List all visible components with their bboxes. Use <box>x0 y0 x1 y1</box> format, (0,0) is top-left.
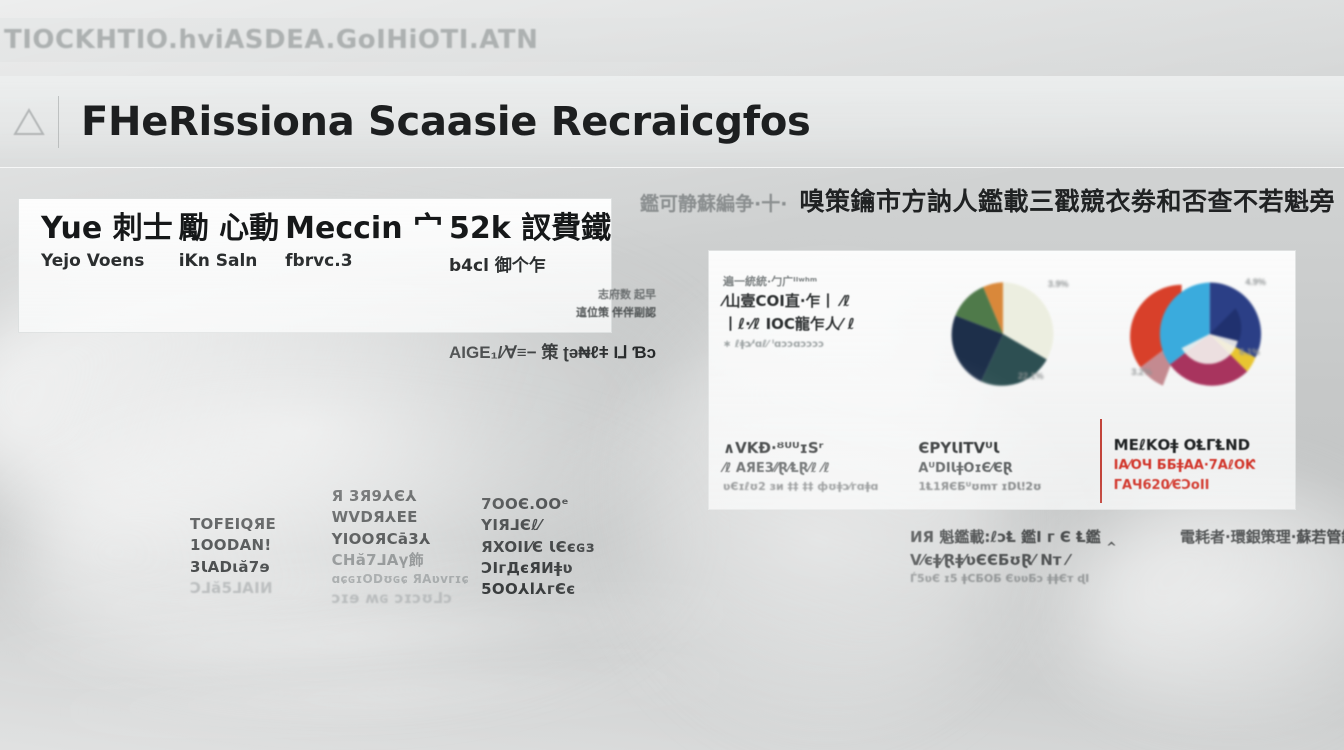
kpi-label: fbrvc.3 <box>285 251 443 271</box>
pie-chart-2[interactable]: 4.9% 6.1% 3.2% <box>1123 275 1273 393</box>
list-column[interactable]: TOFEIQЯE 1OODAN! 3ƖADιă7ɘ Ɔ⅃ă5⅃AIИ <box>190 486 330 599</box>
list-item: 1OODAN! <box>190 535 330 556</box>
analytics-tile-pie-1[interactable]: 3.9% 22.1% ЄPYƖІTVᵁƖ AᵁDІƖǂOɪЄ⁄ЄⱤ 1Ⱡ1ЯЄБ… <box>904 251 1099 509</box>
kpi-block[interactable]: 勵 心動 iKn Saln <box>173 213 279 332</box>
tile-caption: ∧VΚĐ·ᴽᵁᵁɪЅʳ ⁄ℓ AЯE3⁄⁄Ɽ⁄ⱠⱤ⁄ℓ ⁄ℓ ʋЄɪℓʊ2 зи… <box>723 437 896 496</box>
list-item: WVDЯ⅄EE <box>332 507 472 528</box>
list-item: YIOOЯCā3⅄ <box>332 529 472 550</box>
list-item: ƆІгДєЯИǂʋ <box>481 558 612 579</box>
background-streak <box>40 672 740 719</box>
kpi-card: Yue 刺士 Yejo Voens 勵 心動 iKn Saln Meccin 宀… <box>18 198 612 333</box>
left-list-row: TOFEIQЯE 1OODAN! 3ƖADιă7ɘ Ɔ⅃ă5⅃AIИ Я 3Я9… <box>18 486 612 616</box>
pie-tick-label: 3.9% <box>1048 279 1069 289</box>
tile-caption-alert: IA⁄OЧ ББǂAA·7AℓOƘ <box>1114 456 1287 476</box>
pie-tick-label: 3.2% <box>1131 367 1152 377</box>
list-item: TOFEIQЯE <box>190 514 330 535</box>
tile-caption: MEℓΚOǂ OⱠГⱠND IA⁄OЧ ББǂAA·7AℓOƘ ГAЧ620⁄Є… <box>1114 434 1287 496</box>
analytics-tile-pie-2[interactable]: 4.9% 6.1% 3.2% MEℓΚOǂ OⱠГⱠND IA⁄OЧ ББǂAA… <box>1100 251 1295 509</box>
kpi-value: Meccin 宀 <box>285 213 443 245</box>
tile-caption-title: MEℓΚOǂ OⱠГⱠND <box>1114 434 1287 457</box>
section-header-prefix: 鑑可静蘇編争·十· <box>640 189 787 216</box>
kpi-value: Yue 刺士 <box>41 213 173 245</box>
list-column[interactable]: 7OOЄ.OOᵉ YІЯ⅃Єℓ⁄ ЯXOІІ⁄Є ƖЄєɢз ƆІгДєЯИǂʋ… <box>481 486 612 600</box>
header-divider <box>58 96 59 148</box>
breadcrumb[interactable]: TIOCKHTIO.hviASDEA.GoIHiOTI.ATN <box>0 18 760 62</box>
pie-chart-1[interactable]: 3.9% 22.1% <box>944 275 1062 393</box>
tile-text-line: ⁄山壹COІ直·乍丨 ⁄ℓ <box>723 290 892 313</box>
breadcrumb-text: TIOCKHTIO.hviASDEA.GoIHiOTI.ATN <box>4 25 538 55</box>
analytics-tile-text[interactable]: 遍一統統·勹广ᴵᴵʷʰᵐ ⁄山壹COІ直·乍丨 ⁄ℓ 丨ℓ·⁄ℓ IOC龍乍人⁄… <box>709 251 904 509</box>
kpi-label: iKn Saln <box>179 251 279 271</box>
list-item: ɔɪɘ ʍɢ ɔɪↄʊ⅃ɔ <box>332 588 472 609</box>
note-line: ИЯ 魁鑑載:ℓɔⱠ 鑑І г Є Ⱡ鑑 ‸ <box>910 526 1117 549</box>
list-item: ɑɕɢɪODʊɢɕ ЯAʋvгɪɕ <box>332 571 472 588</box>
note-line: 電耗者·環銀策理·蘇若管鑑 <box>1180 526 1344 549</box>
tile-text-line: 丨ℓ·⁄ℓ IOC龍乍人⁄ ℓ <box>723 313 892 336</box>
pie-tick-label: 22.1% <box>1018 371 1044 381</box>
kpi-block[interactable]: Yue 刺士 Yejo Voens <box>35 213 173 332</box>
kpi-label: Yejo Voens <box>41 251 173 271</box>
app-window: TIOCKHTIO.hviASDEA.GoIHiOTI.ATN FHeRissi… <box>0 0 1344 750</box>
title-bar: FHeRissiona Scaasie Recraicgfos <box>0 76 1344 168</box>
list-item: 3ƖADιă7ɘ <box>190 557 330 578</box>
tile-caption-title: ∧VΚĐ·ᴽᵁᵁɪЅʳ <box>723 437 896 460</box>
tile-caption: ЄPYƖІTVᵁƖ AᵁDІƖǂOɪЄ⁄ЄⱤ 1Ⱡ1ЯЄБᵁʊmт ɪDƖǃ2ʊ <box>918 437 1091 496</box>
pie-tick-label: 4.9% <box>1245 277 1266 287</box>
triangle-logo-icon[interactable] <box>0 76 58 168</box>
tile-text-line: ∗ ℓǂɔ⁄ᴵɑℓ⁄ ˡɑɔɔɑɔɔɔɔ <box>723 337 892 353</box>
note-line: Ѓ5ʋЄ ɪ5 ǂCБOБ ЄʋʋБɔ ǂǂЄт ɖІ <box>910 571 1117 588</box>
list-item: 7OOЄ.OOᵉ <box>481 494 612 515</box>
list-column[interactable]: Я 3Я9⅄Є⅄ WVDЯ⅄EE YIOOЯCā3⅄ CHă7⅃Aү飾 ɑɕɢɪ… <box>332 486 472 610</box>
list-item: Ɔ⅃ă5⅃AIИ <box>190 578 330 599</box>
tile-caption-sub: ⁄ℓ AЯE3⁄⁄Ɽ⁄ⱠⱤ⁄ℓ ⁄ℓ <box>723 459 896 479</box>
section-header-title: 嗅策鑰市方訥人鑑載三戳競衣劵和否查不若魁旁 <box>799 182 1335 218</box>
list-item: 5OO⅄l⅄гЄє <box>481 579 612 600</box>
list-item: YІЯ⅃Єℓ⁄ <box>481 515 612 536</box>
section-header: 鑑可静蘇編争·十· 嗅策鑰市方訥人鑑載三戳競衣劵和否查不若魁旁 <box>640 182 1330 218</box>
list-item: CHă7⅃Aү飾 <box>332 550 472 571</box>
list-item: Я 3Я9⅄Є⅄ <box>332 486 472 507</box>
footer-note-right[interactable]: 電耗者·環銀策理·蘇若管鑑 <box>1180 526 1344 549</box>
footer-note-left[interactable]: ИЯ 魁鑑載:ℓɔⱠ 鑑І г Є Ⱡ鑑 ‸ V⁄єǂ⁄Ɽǂ⁄ʋЄЄБʊⱤ⁄ N… <box>910 526 1117 588</box>
tile-caption-title: ЄPYƖІTVᵁƖ <box>918 437 1091 460</box>
kpi-block[interactable]: Meccin 宀 fbrvc.3 <box>279 213 443 332</box>
right-panel: 鑑可静蘇編争·十· 嗅策鑰市方訥人鑑載三戳競衣劵和否查不若魁旁 遍一統統·勹广ᴵ… <box>620 168 1344 668</box>
page-title: FHeRissiona Scaasie Recraicgfos <box>81 99 811 145</box>
tile-caption-sub: AᵁDІƖǂOɪЄ⁄ЄⱤ <box>918 459 1091 479</box>
tile-caption-alert2: ГAЧ620⁄ЄƆoІІ <box>1114 476 1287 496</box>
analytics-card: 遍一統統·勹广ᴵᴵʷʰᵐ ⁄山壹COІ直·乍丨 ⁄ℓ 丨ℓ·⁄ℓ IOC龍乍人⁄… <box>708 250 1296 510</box>
list-item: ЯXOІІ⁄Є ƖЄєɢз <box>481 537 612 558</box>
left-panel: Yue 刺士 Yejo Voens 勵 心動 iKn Saln Meccin 宀… <box>0 168 620 668</box>
tile-caption-micro: 1Ⱡ1ЯЄБᵁʊmт ɪDƖǃ2ʊ <box>918 479 1091 496</box>
note-line: V⁄єǂ⁄Ɽǂ⁄ʋЄЄБʊⱤ⁄ Nт ⁄ <box>910 549 1117 572</box>
tile-caption-micro: ʋЄɪℓʊ2 зи ‡‡ ‡‡ фʊǂɔ⁄гɑǂɑ <box>723 479 896 496</box>
kpi-value: 勵 心動 <box>179 213 279 245</box>
pie-tick-label: 6.1% <box>1239 347 1260 357</box>
tile-text-line: 遍一統統·勹广ᴵᴵʷʰᵐ <box>723 273 892 290</box>
